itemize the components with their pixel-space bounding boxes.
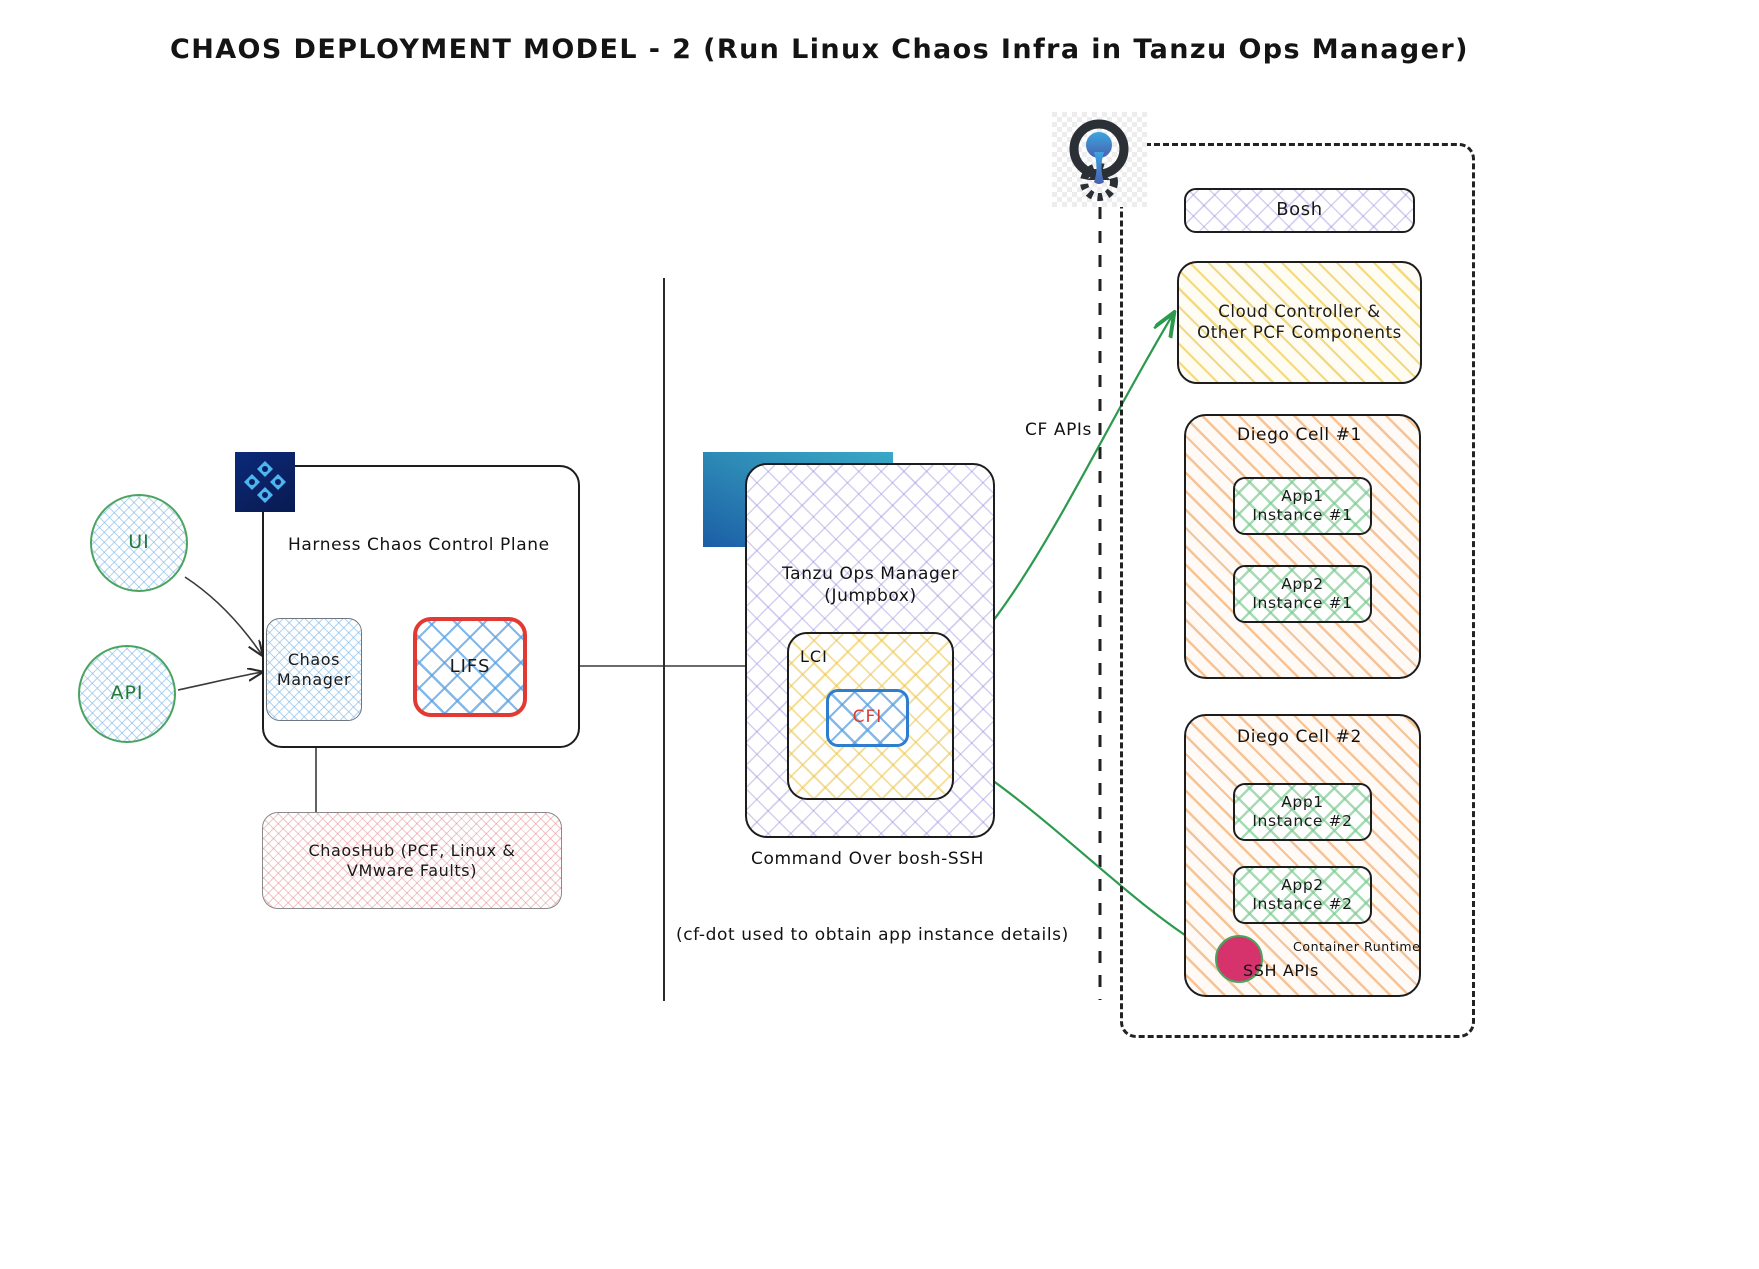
bosh-node[interactable]: Bosh (1184, 188, 1415, 233)
harness-logo-icon (235, 452, 295, 512)
lci-label: LCI (800, 647, 828, 666)
diagram-canvas: CHAOS DEPLOYMENT MODEL - 2 (Run Linux Ch… (0, 0, 1759, 1269)
lifs-label: LIFS (450, 656, 491, 679)
app2-instance1-line-1: App2 (1281, 575, 1324, 594)
chaoshub-node[interactable]: ChaosHub (PCF, Linux & VMware Faults) (262, 812, 562, 909)
chaos-manager-line-2: Manager (277, 670, 351, 690)
ops-manager-label: Tanzu Ops Manager (Jumpbox) (782, 563, 959, 607)
lifs-node[interactable]: LIFS (413, 617, 527, 717)
app1-instance2-node[interactable]: App1 Instance #2 (1233, 783, 1372, 841)
diego-cell-1-group (1184, 414, 1421, 679)
app2-instance2-node[interactable]: App2 Instance #2 (1233, 866, 1372, 924)
vertical-divider (663, 278, 665, 1001)
cloud-controller-line-1: Cloud Controller & (1218, 302, 1380, 323)
chaos-manager-node[interactable]: Chaos Manager (266, 618, 362, 721)
app1-instance2-line-2: Instance #2 (1252, 812, 1352, 831)
ops-manager-line-2: (Jumpbox) (782, 585, 959, 607)
container-runtime-label: Container Runtime (1293, 939, 1420, 954)
app1-instance1-node[interactable]: App1 Instance #1 (1233, 477, 1372, 535)
app2-instance1-node[interactable]: App2 Instance #1 (1233, 565, 1372, 623)
chaos-manager-line-1: Chaos (288, 650, 340, 670)
cf-apis-label: CF APIs (1025, 420, 1092, 440)
bosh-label: Bosh (1276, 199, 1323, 222)
ui-node[interactable]: UI (90, 494, 188, 592)
app2-instance2-line-1: App2 (1281, 876, 1324, 895)
cloud-controller-node[interactable]: Cloud Controller & Other PCF Components (1177, 261, 1422, 384)
diego-cell-2-label: Diego Cell #2 (1237, 727, 1362, 747)
ui-label: UI (128, 531, 150, 555)
app2-instance2-line-2: Instance #2 (1252, 895, 1352, 914)
cf-dot-note-label: (cf-dot used to obtain app instance deta… (676, 925, 1069, 945)
app1-instance2-line-1: App1 (1281, 793, 1324, 812)
api-label: API (110, 682, 143, 706)
cloud-foundry-logo-icon (1052, 112, 1147, 207)
chaoshub-line-2: VMware Faults) (347, 861, 477, 881)
diego-cell-1-label: Diego Cell #1 (1237, 425, 1362, 445)
ssh-apis-label: SSH APIs (1243, 961, 1319, 980)
control-plane-label: Harness Chaos Control Plane (288, 535, 550, 555)
cfi-node[interactable]: CFI (826, 689, 909, 747)
command-over-bosh-ssh-label: Command Over bosh-SSH (751, 849, 984, 869)
chaoshub-line-1: ChaosHub (PCF, Linux & (309, 841, 516, 861)
api-node[interactable]: API (78, 645, 176, 743)
ops-manager-line-1: Tanzu Ops Manager (782, 563, 959, 585)
cfi-label: CFI (853, 707, 883, 728)
cloud-controller-line-2: Other PCF Components (1197, 323, 1402, 344)
app1-instance1-line-2: Instance #1 (1252, 506, 1352, 525)
app1-instance1-line-1: App1 (1281, 487, 1324, 506)
page-title: CHAOS DEPLOYMENT MODEL - 2 (Run Linux Ch… (170, 34, 1469, 65)
app2-instance1-line-2: Instance #1 (1252, 594, 1352, 613)
